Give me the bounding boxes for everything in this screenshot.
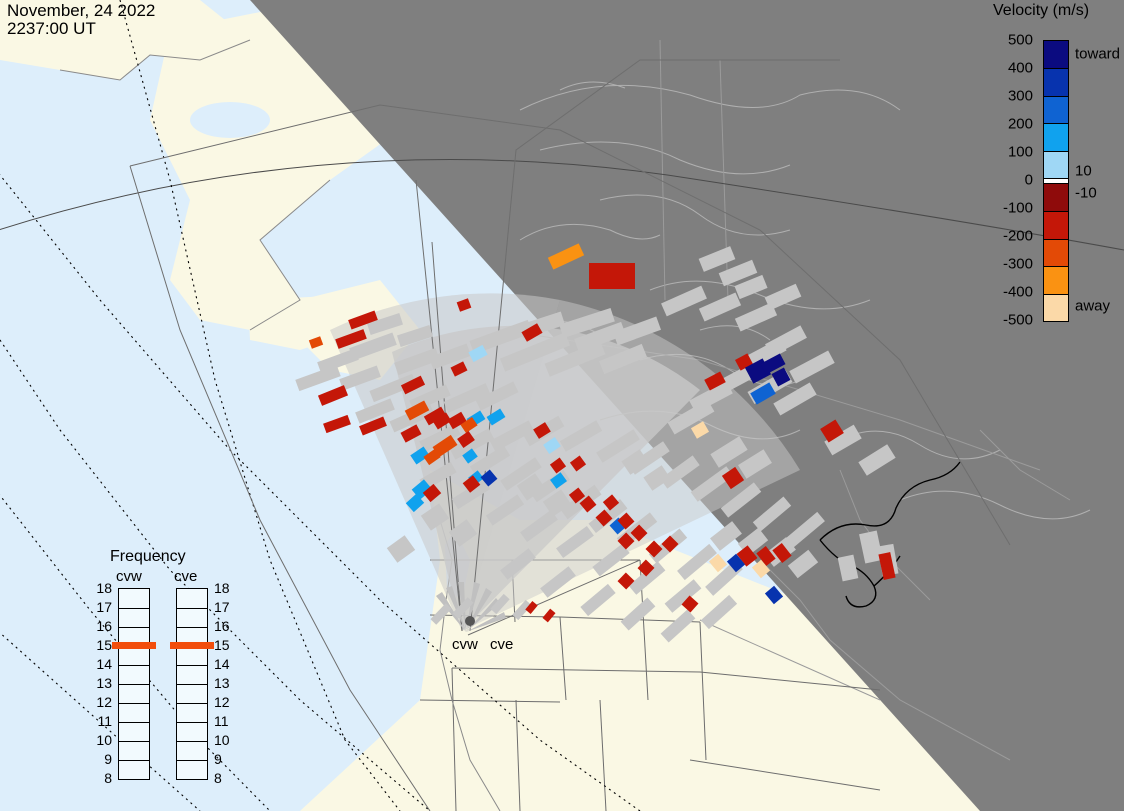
colorbar-tick-300: 300 bbox=[1008, 88, 1033, 105]
colorbar-segment-away-1 bbox=[1044, 211, 1068, 238]
frequency-scale-label-14: 14 bbox=[214, 656, 230, 672]
colorbar-segment-away-2 bbox=[1044, 239, 1068, 266]
frequency-cell bbox=[119, 684, 149, 703]
frequency-scale-label-17: 17 bbox=[88, 599, 112, 615]
frequency-cell bbox=[177, 760, 207, 779]
frequency-scale-label-15: 15 bbox=[88, 637, 112, 653]
frequency-scale-label-13: 13 bbox=[214, 675, 230, 691]
radar-label-cvw: cvw bbox=[452, 636, 478, 653]
frequency-scale-label-11: 11 bbox=[214, 713, 229, 729]
frequency-cell bbox=[177, 722, 207, 741]
frequency-bar-cvw bbox=[118, 588, 150, 780]
frequency-cell bbox=[177, 608, 207, 627]
frequency-scale-label-13: 13 bbox=[88, 675, 112, 691]
colorbar-positive-threshold: 10 bbox=[1075, 163, 1092, 180]
frequency-cell bbox=[119, 589, 149, 608]
frequency-scale-label-9: 9 bbox=[214, 751, 222, 767]
colorbar-tick-100: 100 bbox=[1008, 144, 1033, 161]
frequency-column-name-cve: cve bbox=[174, 568, 197, 585]
colorbar-tick--500: -500 bbox=[1003, 312, 1033, 329]
frequency-cell bbox=[177, 665, 207, 684]
frequency-scale-label-12: 12 bbox=[88, 694, 112, 710]
colorbar-tick-labels: 5004003002001000-100-200-300-400-500 bbox=[985, 40, 1037, 322]
colorbar-segment-toward-1 bbox=[1044, 68, 1068, 95]
colorbar-segment-away-3 bbox=[1044, 266, 1068, 293]
colorbar-segment-away-4 bbox=[1044, 294, 1068, 321]
colorbar-tick--400: -400 bbox=[1003, 284, 1033, 301]
velocity-cell bbox=[589, 263, 635, 289]
colorbar-title: Velocity (m/s) bbox=[993, 2, 1089, 20]
frequency-column-name-cvw: cvw bbox=[116, 568, 142, 585]
colorbar-segment-toward-4 bbox=[1044, 151, 1068, 178]
frequency-scale-label-10: 10 bbox=[214, 732, 230, 748]
frequency-scale-label-8: 8 bbox=[88, 770, 112, 786]
frequency-scale-label-15: 15 bbox=[214, 637, 230, 653]
frequency-scale-label-8: 8 bbox=[214, 770, 222, 786]
colorbar-tick-400: 400 bbox=[1008, 60, 1033, 77]
frequency-cell bbox=[119, 703, 149, 722]
colorbar-negative-threshold: -10 bbox=[1075, 185, 1097, 202]
frequency-scale-label-16: 16 bbox=[88, 618, 112, 634]
frequency-marker-cvw bbox=[112, 642, 156, 649]
radar-label-cve: cve bbox=[490, 636, 513, 653]
colorbar-tick-0: 0 bbox=[1025, 172, 1033, 189]
velocity-colorbar: Velocity (m/s) 5004003002001000-100-200-… bbox=[985, 0, 1124, 340]
colorbar-segment-toward-2 bbox=[1044, 96, 1068, 123]
colorbar-toward-label: toward bbox=[1075, 45, 1120, 62]
frequency-bar-cve bbox=[176, 588, 208, 780]
frequency-cell bbox=[177, 684, 207, 703]
frequency-cell bbox=[177, 703, 207, 722]
frequency-scale-label-16: 16 bbox=[214, 618, 230, 634]
colorbar-away-label: away bbox=[1075, 298, 1110, 315]
frequency-cell bbox=[119, 665, 149, 684]
frequency-scale-label-11: 11 bbox=[88, 713, 112, 729]
frequency-scale-label-18: 18 bbox=[88, 580, 112, 596]
frequency-scale-label-14: 14 bbox=[88, 656, 112, 672]
frequency-scale-label-9: 9 bbox=[88, 751, 112, 767]
frequency-cell bbox=[177, 741, 207, 760]
colorbar-segment-toward-0 bbox=[1044, 41, 1068, 68]
frequency-cell bbox=[119, 608, 149, 627]
frequency-scale-label-10: 10 bbox=[88, 732, 112, 748]
frequency-scale-label-18: 18 bbox=[214, 580, 230, 596]
frequency-marker-cve bbox=[170, 642, 214, 649]
radar-site-marker bbox=[465, 616, 475, 626]
colorbar-segment-away-0 bbox=[1044, 184, 1068, 211]
frequency-legend-title: Frequency bbox=[110, 548, 186, 566]
colorbar-gradient bbox=[1043, 40, 1069, 322]
frequency-cell bbox=[119, 722, 149, 741]
frequency-cell bbox=[119, 760, 149, 779]
colorbar-tick-200: 200 bbox=[1008, 116, 1033, 133]
colorbar-tick--100: -100 bbox=[1003, 200, 1033, 217]
colorbar-tick-500: 500 bbox=[1008, 32, 1033, 49]
colorbar-tick--200: -200 bbox=[1003, 228, 1033, 245]
frequency-cell bbox=[119, 741, 149, 760]
frequency-cell bbox=[177, 589, 207, 608]
colorbar-tick--300: -300 bbox=[1003, 256, 1033, 273]
frequency-legend: Frequency cvw18171615141312111098cve1817… bbox=[88, 548, 228, 788]
frequency-scale-label-12: 12 bbox=[214, 694, 230, 710]
colorbar-segment-toward-3 bbox=[1044, 123, 1068, 150]
radar-map-figure: November, 24 2022 2237:00 UT Velocity (m… bbox=[0, 0, 1124, 811]
observation-date: November, 24 2022 bbox=[7, 1, 155, 20]
frequency-scale-label-17: 17 bbox=[214, 599, 230, 615]
observation-time: 2237:00 UT bbox=[7, 19, 96, 38]
